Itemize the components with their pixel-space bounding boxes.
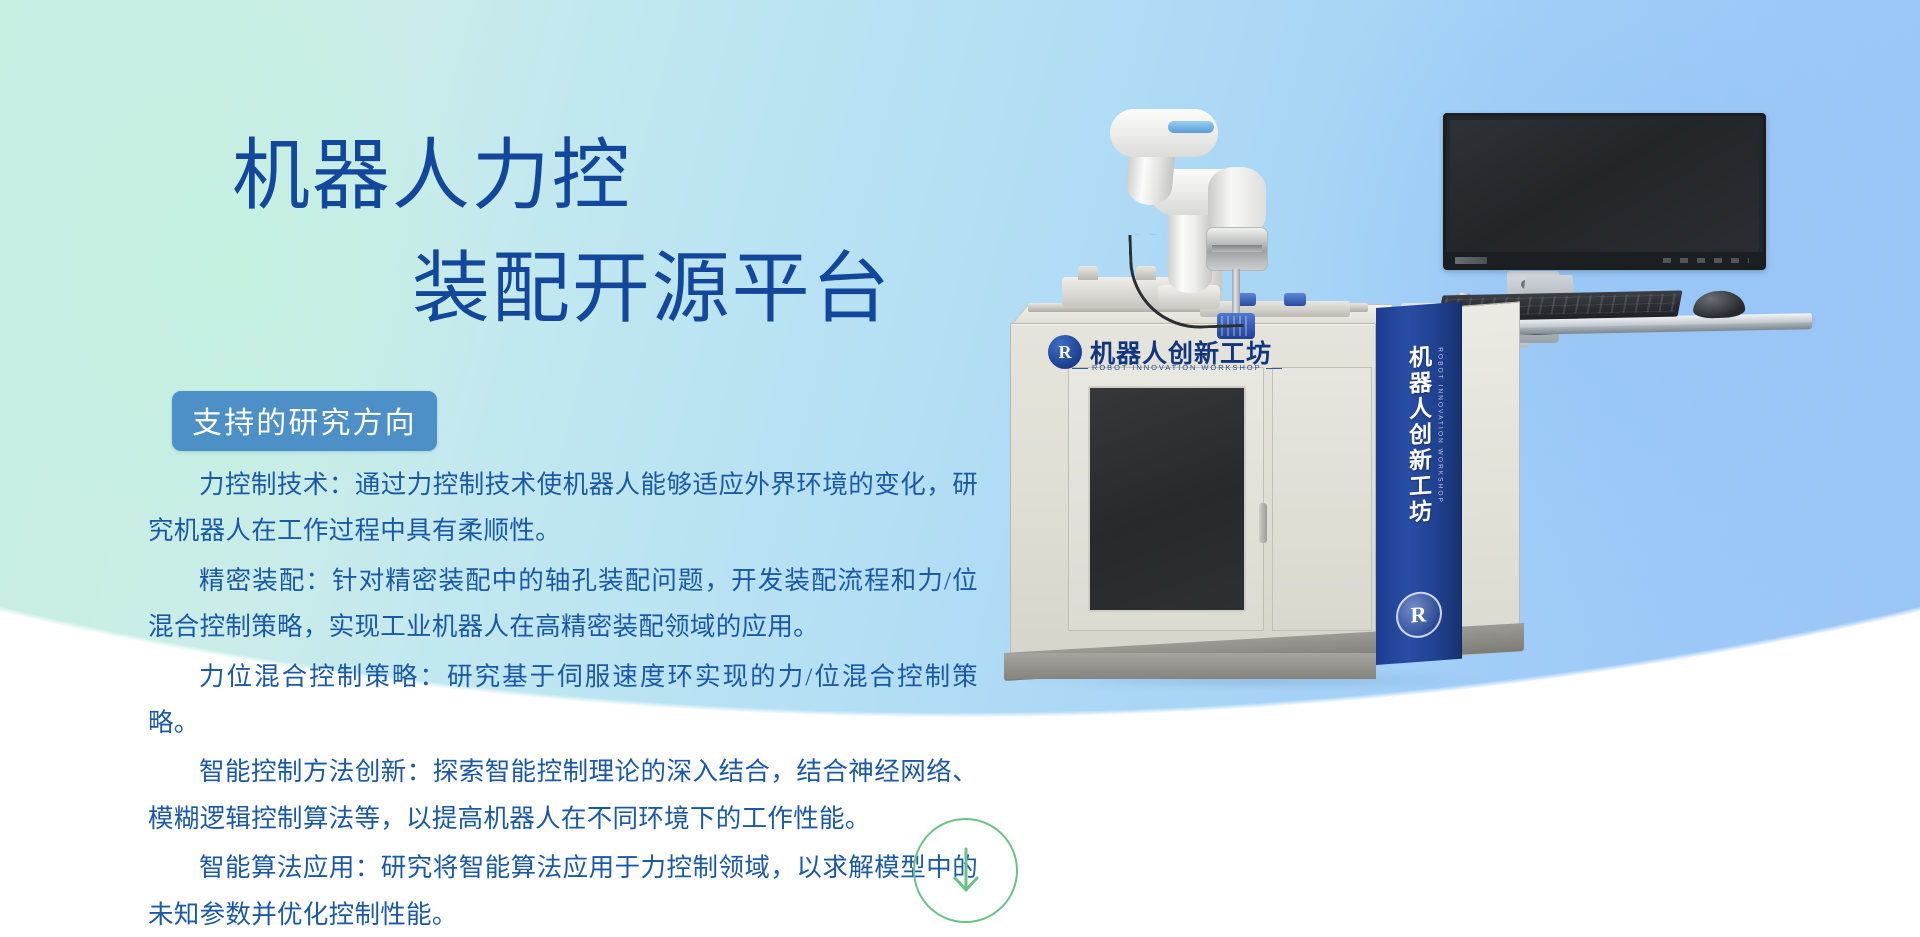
brand-logo-icon: R [1048, 335, 1082, 369]
research-direction-item: 力控制技术：通过力控制技术使机器人能够适应外界环境的变化，研究机器人在工作过程中… [148, 462, 978, 555]
monitor-brand-logo [1455, 257, 1487, 264]
research-direction-item: 智能算法应用：研究将智能算法应用于力控制领域，以求解模型中的未知参数并优化控制性… [148, 845, 978, 937]
robot-status-ring [1168, 121, 1214, 133]
cabinet-brand-name-en: ROBOT INNOVATION WORKSHOP [1092, 363, 1262, 372]
hero-banner: 机器人力控 装配开源平台 支持的研究方向 力控制技术：通过力控制技术使机器人能够… [0, 0, 1920, 937]
page-title-line-2: 装配开源平台 [232, 241, 1092, 336]
cabinet-right-panel [1272, 367, 1372, 631]
display-monitor [1443, 113, 1766, 270]
cabinet-brand-plate: R 机器人创新工坊 ROBOT INNOVATION WORKSHOP [1048, 333, 1298, 375]
scroll-down-button[interactable] [913, 818, 1018, 923]
arrow-down-icon [949, 843, 983, 899]
equipment-photo-robot-workcell: R 机器人创新工坊 ROBOT INNOVATION WORKSHOP 机器人创… [1010, 105, 1800, 795]
cabinet-base-front [1004, 653, 1376, 679]
research-directions-list: 力控制技术：通过力控制技术使机器人能够适应外界环境的变化，研究机器人在工作过程中… [148, 462, 978, 937]
side-panel-brand-en: ROBOT INNOVATION WORKSHOP [1437, 347, 1444, 504]
monitor-screen [1450, 120, 1759, 252]
side-panel-logo-icon: R [1396, 590, 1442, 639]
section-badge-research-directions: 支持的研究方向 [172, 391, 437, 451]
side-panel-brand-cn: 机器人创新工坊 [1402, 344, 1436, 527]
page-title-line-1: 机器人力控 [232, 128, 1092, 223]
research-direction-item: 智能控制方法创新：探索智能控制理论的深入结合，结合神经网络、模糊逻辑控制算法等，… [148, 749, 978, 842]
monitor-bezel-bottom [1446, 252, 1763, 267]
cabinet-blue-side-column: 机器人创新工坊 ROBOT INNOVATION WORKSHOP R [1376, 302, 1462, 665]
page-title: 机器人力控 装配开源平台 [232, 128, 1092, 336]
research-direction-item: 精密装配：针对精密装配中的轴孔装配问题，开发装配流程和力/位混合控制策略，实现工… [148, 558, 978, 651]
robot-shoulder-joint [1110, 109, 1218, 157]
cabinet-door-window [1088, 386, 1246, 612]
monitor-osd-buttons [1663, 258, 1749, 263]
cabinet-door-handle[interactable] [1259, 503, 1267, 543]
research-direction-item: 力位混合控制策略：研究基于伺服速度环实现的力/位混合控制策略。 [148, 654, 978, 747]
mouse [1693, 290, 1746, 319]
